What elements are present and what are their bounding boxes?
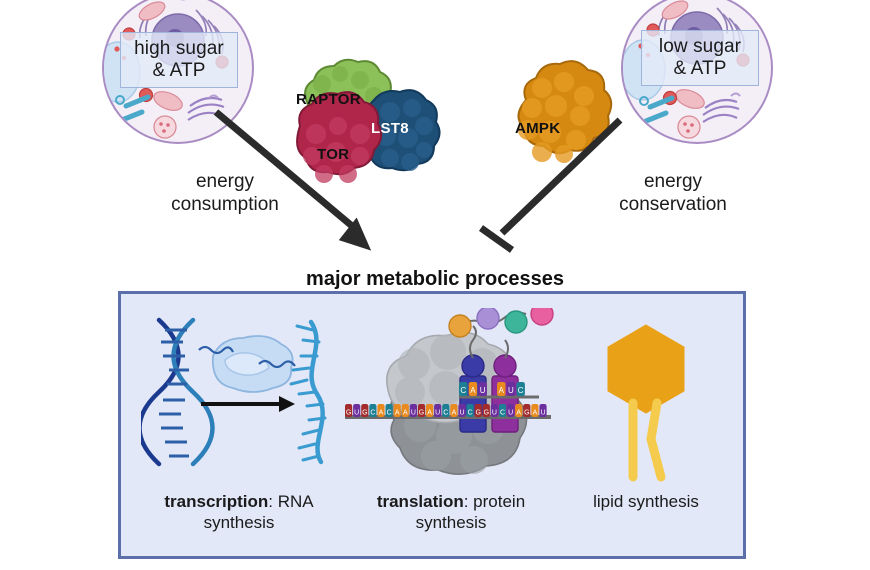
mrna-base-letter: U — [354, 410, 359, 417]
trna-base-letter: C — [518, 386, 524, 395]
transcription-line2: synthesis — [139, 512, 339, 533]
mrna-base-letter: G — [484, 410, 489, 417]
energy-consumption-line2: consumption — [150, 193, 300, 216]
mrna-base-letter: G — [419, 410, 424, 417]
mrna-base-letter: C — [387, 410, 392, 417]
mrna-base-letter: G — [346, 410, 351, 417]
mrna-base-letter: C — [468, 410, 473, 417]
mrna-base-letter: A — [403, 410, 408, 417]
mrna-base-letter: G — [524, 410, 529, 417]
panel-title: major metabolic processes — [0, 268, 870, 291]
translation-line2: synthesis — [351, 512, 551, 533]
mrna-base-letter: G — [475, 410, 480, 417]
mrna-base-letter: A — [452, 410, 457, 417]
mrna-base-letter: A — [427, 410, 432, 417]
trna-base-letter: U — [508, 386, 514, 395]
trna-head-1 — [462, 355, 484, 377]
mrna-base-letter: U — [459, 410, 464, 417]
mrna-base-letter: U — [435, 410, 440, 417]
trna-head-2 — [494, 355, 516, 377]
mrna-base-letter: U — [540, 410, 545, 417]
lipid-graphic — [581, 319, 711, 489]
translation-rest: : protein — [464, 492, 525, 511]
transcription-graphic — [141, 314, 341, 484]
mrna-base-letter: C — [370, 410, 375, 417]
trna-base-letter: C — [460, 386, 466, 395]
transcription-caption: transcription: RNA synthesis — [139, 491, 339, 533]
metabolic-processes-panel: transcription: RNA synthesis — [118, 291, 746, 559]
mrna-base-letter: A — [516, 410, 521, 417]
energy-conservation-line2: conservation — [598, 193, 748, 216]
trna-base-letter: U — [480, 386, 486, 395]
transcription-arrow — [201, 396, 295, 412]
translation-caption: translation: protein synthesis — [351, 491, 551, 533]
trna-anticodons: CAUAUC — [459, 376, 539, 402]
trna-base-letter: A — [470, 386, 476, 395]
mrna-base-letter: U — [411, 410, 416, 417]
lipid-head-hexagon — [608, 325, 684, 413]
transcription-bold: transcription — [164, 492, 268, 511]
mrna-base-letter: A — [395, 410, 400, 417]
mrna-base-letter: A — [533, 410, 538, 417]
energy-consumption-line1: energy — [150, 170, 300, 193]
lipid-caption: lipid synthesis — [581, 491, 711, 512]
lipid-tails — [633, 403, 661, 477]
mrna-base-letter: G — [362, 410, 367, 417]
mrna-base-letter: U — [508, 410, 513, 417]
energy-conservation-label: energy conservation — [598, 170, 748, 216]
rna-strand — [291, 322, 325, 462]
mrna-base-letter: U — [492, 410, 497, 417]
translation-bold: translation — [377, 492, 464, 511]
mrna-base-letter: C — [443, 410, 448, 417]
rna-polymerase-blob — [213, 336, 293, 392]
energy-consumption-label: energy consumption — [150, 170, 300, 216]
mrna-base-letter: C — [500, 410, 505, 417]
transcription-rest: : RNA — [268, 492, 313, 511]
lipid-rest: lipid synthesis — [593, 492, 699, 511]
energy-conservation-line1: energy — [598, 170, 748, 193]
trna-base-letter: A — [499, 386, 505, 395]
figure-canvas: high sugar & ATP — [0, 0, 870, 570]
mrna-base-letter: A — [379, 410, 384, 417]
